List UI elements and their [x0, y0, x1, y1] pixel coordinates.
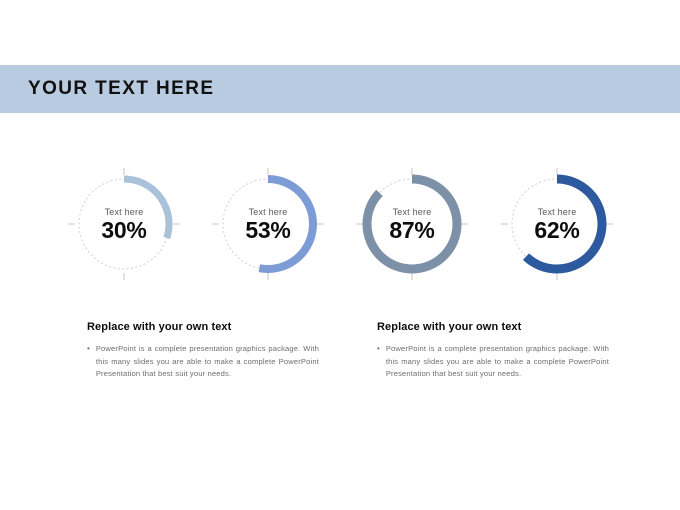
text-block: Replace with your own text • PowerPoint …: [377, 321, 609, 381]
gauge-2: Text here87%: [350, 162, 474, 286]
bullet-dot-icon: •: [87, 343, 90, 355]
gauge-0: Text here30%: [62, 162, 186, 286]
bullet-item: • PowerPoint is a complete presentation …: [377, 343, 609, 381]
bullet-dot-icon: •: [377, 343, 380, 355]
text-block: Replace with your own text • PowerPoint …: [87, 321, 319, 381]
gauges-row: Text here30%Text here53%Text here87%Text…: [0, 162, 680, 287]
page-title: YOUR TEXT HERE: [28, 78, 214, 100]
text-block-heading: Replace with your own text: [87, 321, 319, 333]
bullet-text: PowerPoint is a complete presentation gr…: [96, 343, 319, 381]
gauge-3: Text here62%: [495, 162, 619, 286]
gauge-1: Text here53%: [206, 162, 330, 286]
text-block-heading: Replace with your own text: [377, 321, 609, 333]
bullet-text: PowerPoint is a complete presentation gr…: [386, 343, 609, 381]
bullet-item: • PowerPoint is a complete presentation …: [87, 343, 319, 381]
